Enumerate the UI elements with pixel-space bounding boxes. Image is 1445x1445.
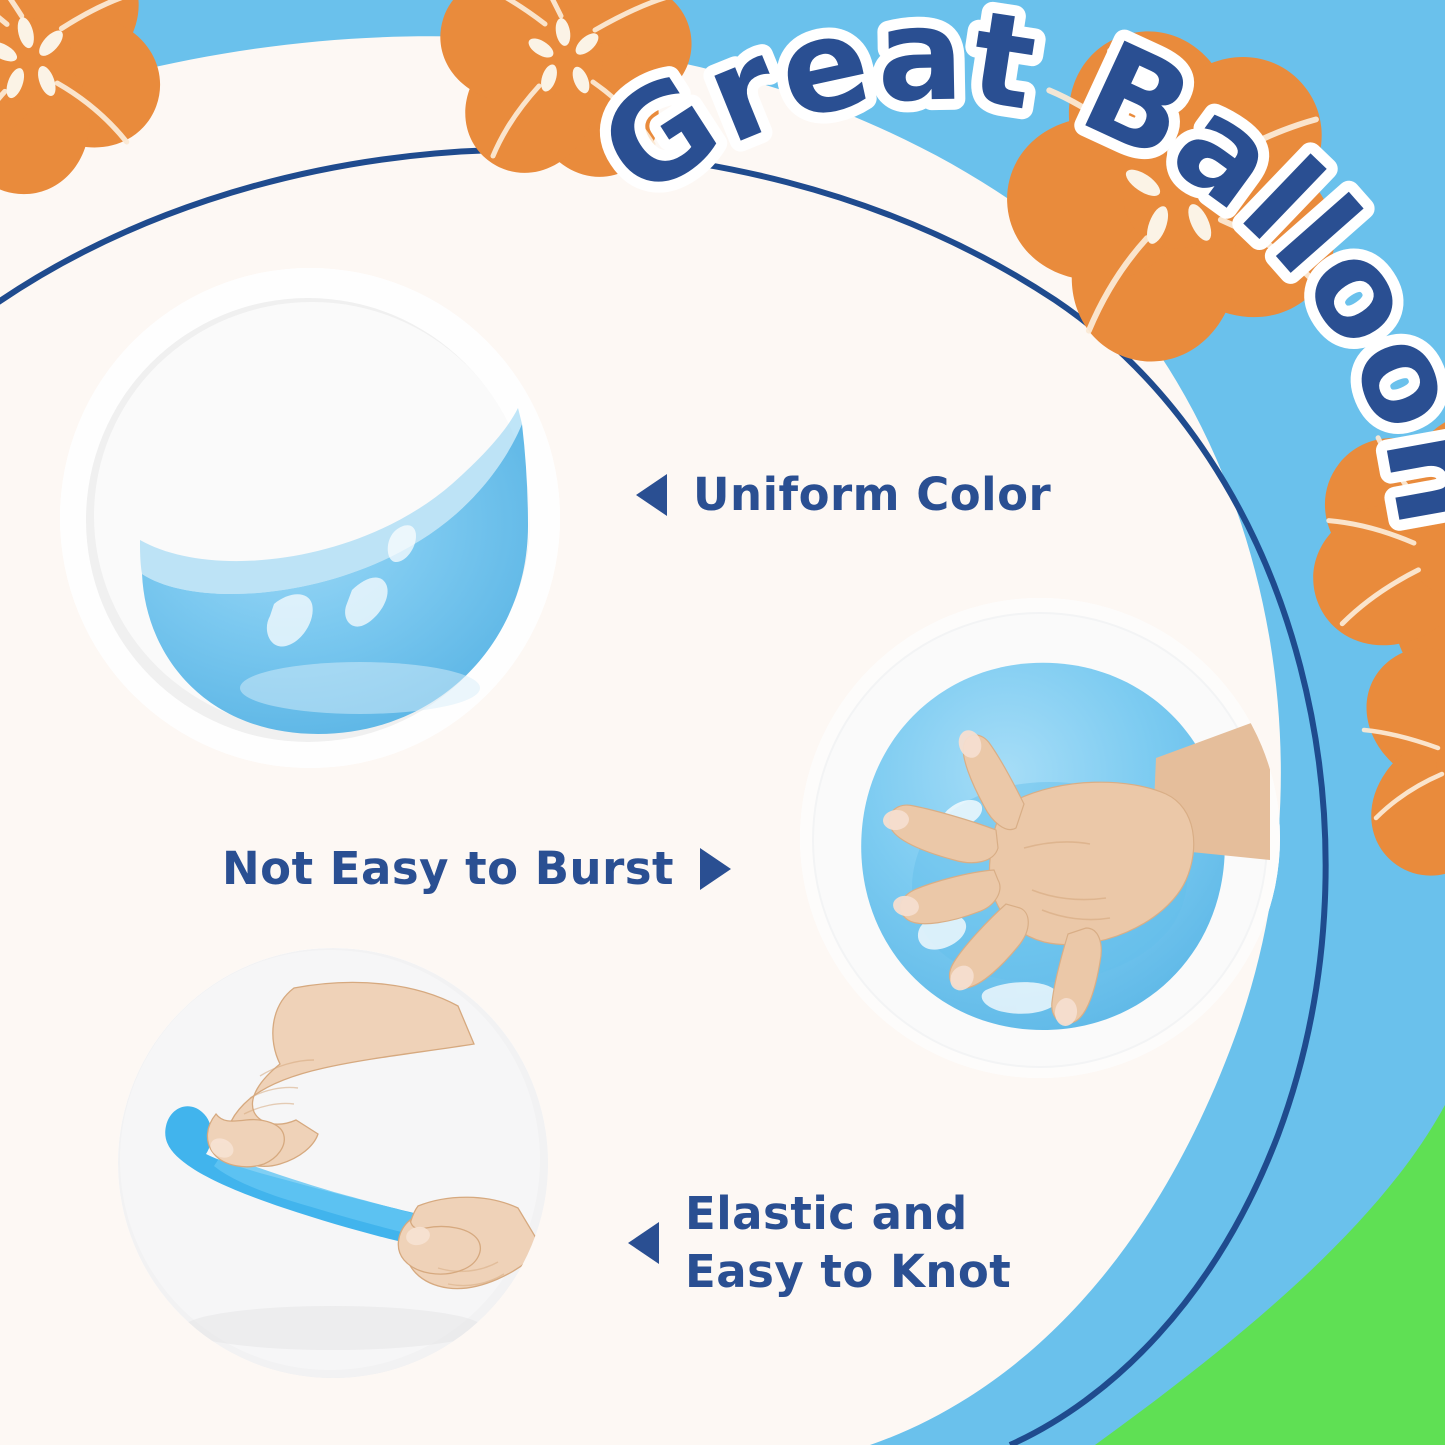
callout-elastic-and-easy-to-knot: Elastic and Easy to Knot — [628, 1185, 1011, 1300]
callout-not-easy-to-burst: Not Easy to Burst — [222, 842, 731, 897]
triangle-right-icon — [700, 848, 731, 890]
triangle-left-icon — [628, 1222, 659, 1264]
photo-uniform-color — [60, 268, 560, 768]
callout-uniform-color-label: Uniform Color — [693, 468, 1051, 523]
hand-pressing-balloon-artwork — [800, 598, 1280, 1078]
callout-uniform-color: Uniform Color — [636, 468, 1051, 523]
photo-not-easy-to-burst — [800, 598, 1280, 1078]
callout-not-easy-to-burst-label: Not Easy to Burst — [222, 842, 674, 897]
callout-elastic-line-1: Elastic and — [685, 1185, 1011, 1243]
stretching-balloon-artwork — [118, 948, 548, 1378]
balloon-photo-artwork — [60, 268, 560, 768]
callout-elastic-line-2: Easy to Knot — [685, 1243, 1011, 1301]
photo-elastic-and-easy-to-knot — [118, 948, 548, 1378]
triangle-left-icon — [636, 474, 667, 516]
infographic-canvas: Great Balloons Great Balloons — [0, 0, 1445, 1445]
